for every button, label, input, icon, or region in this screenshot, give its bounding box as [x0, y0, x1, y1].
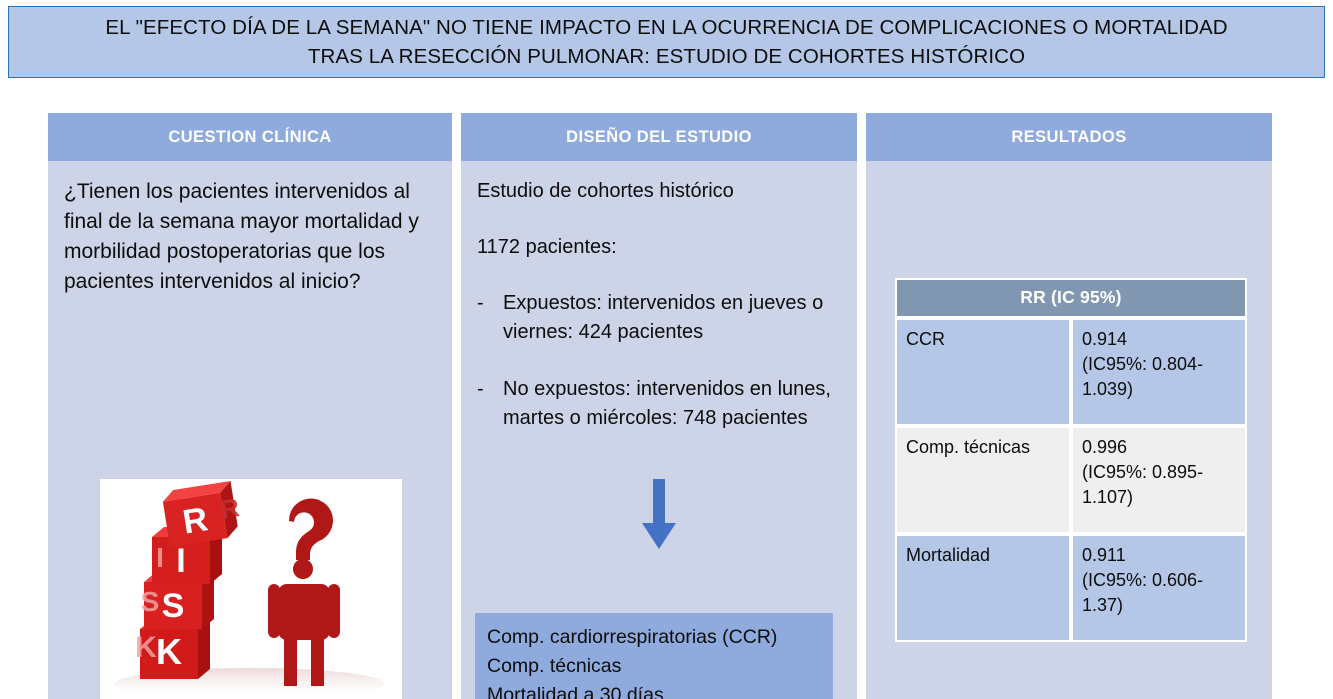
outcome-item: Comp. técnicas: [487, 652, 821, 681]
study-design-type: Estudio de cohortes histórico: [477, 177, 841, 205]
clinical-question-text: ¿Tienen los pacientes intervenidos al fi…: [64, 177, 436, 297]
content-columns: CUESTION CLÍNICA ¿Tienen los pacientes i…: [48, 113, 1272, 699]
outcome-item: Comp. cardiorrespiratorias (CCR): [487, 623, 821, 652]
title-banner: EL "EFECTO DÍA DE LA SEMANA" NO TIENE IM…: [8, 6, 1325, 78]
column-clinical-question: CUESTION CLÍNICA ¿Tienen los pacientes i…: [48, 113, 452, 699]
column-study-design: DISEÑO DEL ESTUDIO Estudio de cohortes h…: [461, 113, 857, 699]
spacer: [477, 347, 841, 375]
column-body-study-design: Estudio de cohortes histórico 1172 pacie…: [461, 161, 857, 699]
bullet-exposed: - Expuestos: intervenidos en jueves o vi…: [477, 289, 841, 347]
study-sample-size: 1172 pacientes:: [477, 233, 841, 261]
table-header-rr: RR (IC 95%): [895, 278, 1247, 318]
column-header-results: RESULTADOS: [866, 113, 1272, 161]
results-table: RR (IC 95%) CCR 0.914 (IC95%: 0.804-1.03…: [895, 278, 1247, 642]
bullet-marker-icon: -: [477, 375, 503, 433]
row-label-technical-complications: Comp. técnicas: [895, 426, 1071, 534]
svg-text:K: K: [135, 631, 157, 664]
row-label-ccr: CCR: [895, 318, 1071, 426]
row-value-mortality: 0.911 (IC95%: 0.606-1.37): [1071, 534, 1247, 642]
risk-blocks-svg: K K S S: [100, 479, 402, 699]
row-value-technical-complications: 0.996 (IC95%: 0.895-1.107): [1071, 426, 1247, 534]
outcome-item: Mortalidad a 30 días: [487, 681, 821, 699]
column-results: RESULTADOS RR (IC 95%) CCR 0.914 (IC95%:…: [866, 113, 1272, 699]
page-title: EL "EFECTO DÍA DE LA SEMANA" NO TIENE IM…: [105, 13, 1227, 71]
svg-text:S: S: [162, 587, 185, 625]
svg-text:I: I: [176, 542, 185, 580]
svg-text:S: S: [141, 586, 160, 617]
spacer: [477, 205, 841, 233]
arrow-container: [461, 479, 857, 553]
table-header-row: RR (IC 95%): [895, 278, 1247, 318]
row-value-ccr: 0.914 (IC95%: 0.804-1.039): [1071, 318, 1247, 426]
row-label-mortality: Mortalidad: [895, 534, 1071, 642]
bullet-unexposed: - No expuestos: intervenidos en lunes, m…: [477, 375, 841, 433]
column-body-clinical-question: ¿Tienen los pacientes intervenidos al fi…: [48, 161, 452, 699]
outcomes-box: Comp. cardiorrespiratorias (CCR) Comp. t…: [475, 613, 833, 699]
column-header-clinical-question: CUESTION CLÍNICA: [48, 113, 452, 161]
bullet-exposed-text: Expuestos: intervenidos en jueves o vier…: [503, 289, 841, 347]
risk-blocks-illustration: K K S S: [100, 479, 402, 699]
table-row: Mortalidad 0.911 (IC95%: 0.606-1.37): [895, 534, 1247, 642]
svg-text:I: I: [156, 542, 164, 573]
table-row: CCR 0.914 (IC95%: 0.804-1.039): [895, 318, 1247, 426]
spacer: [477, 261, 841, 289]
down-arrow-icon: [640, 479, 678, 553]
column-body-results: RR (IC 95%) CCR 0.914 (IC95%: 0.804-1.03…: [866, 161, 1272, 699]
svg-text:K: K: [156, 631, 182, 672]
bullet-unexposed-text: No expuestos: intervenidos en lunes, mar…: [503, 375, 841, 433]
column-header-study-design: DISEÑO DEL ESTUDIO: [461, 113, 857, 161]
bullet-marker-icon: -: [477, 289, 503, 347]
table-row: Comp. técnicas 0.996 (IC95%: 0.895-1.107…: [895, 426, 1247, 534]
